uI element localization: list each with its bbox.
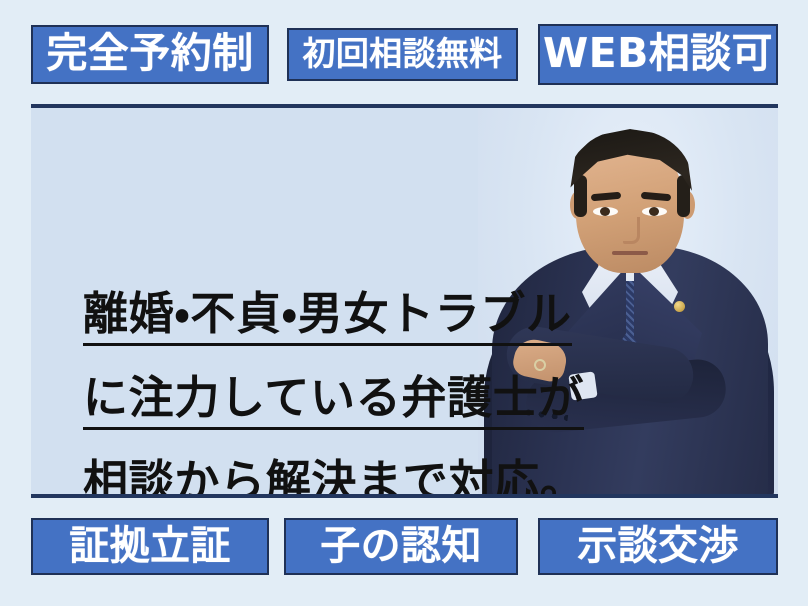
badge-appointment-only[interactable]: 完全予約制 — [31, 25, 269, 84]
badge-child-recognition-label: 子の認知 — [320, 526, 482, 566]
divider-top — [31, 104, 778, 108]
headline: 離婚・不貞・男女トラブル に注力している弁護士が 相談から解決まで対応。 — [83, 291, 585, 498]
badge-child-recognition[interactable]: 子の認知 — [284, 518, 518, 575]
badge-settlement-negotiation[interactable]: 示談交渉 — [538, 518, 778, 575]
badge-web-consultation-label: WEB相談可 — [543, 33, 773, 74]
headline-line-1: 離婚・不貞・男女トラブル — [83, 291, 572, 346]
iris-right — [649, 207, 659, 216]
badge-free-first-consultation[interactable]: 初回相談無料 — [287, 28, 518, 81]
iris-left — [600, 207, 610, 216]
badge-evidence-proof-label: 証拠立証 — [69, 526, 231, 566]
eye-right — [642, 207, 667, 216]
eye-left — [593, 207, 618, 216]
headline-line-2: に注力している弁護士が — [83, 375, 584, 430]
mouth — [612, 251, 648, 255]
nose — [623, 217, 640, 244]
main-panel: 離婚・不貞・男女トラブル に注力している弁護士が 相談から解決まで対応。 — [31, 105, 778, 498]
badge-free-first-consultation-label: 初回相談無料 — [303, 37, 503, 70]
lawyer-badge-pin-icon — [674, 301, 685, 312]
badge-appointment-only-label: 完全予約制 — [46, 33, 253, 74]
badge-settlement-negotiation-label: 示談交渉 — [577, 526, 739, 566]
headline-line-3: 相談から解決まで対応。 — [83, 459, 585, 498]
promo-banner: 完全予約制 初回相談無料 WEB相談可 — [0, 0, 808, 606]
badge-evidence-proof[interactable]: 証拠立証 — [31, 518, 269, 575]
badge-web-consultation[interactable]: WEB相談可 — [538, 24, 778, 85]
divider-bottom — [31, 494, 778, 498]
